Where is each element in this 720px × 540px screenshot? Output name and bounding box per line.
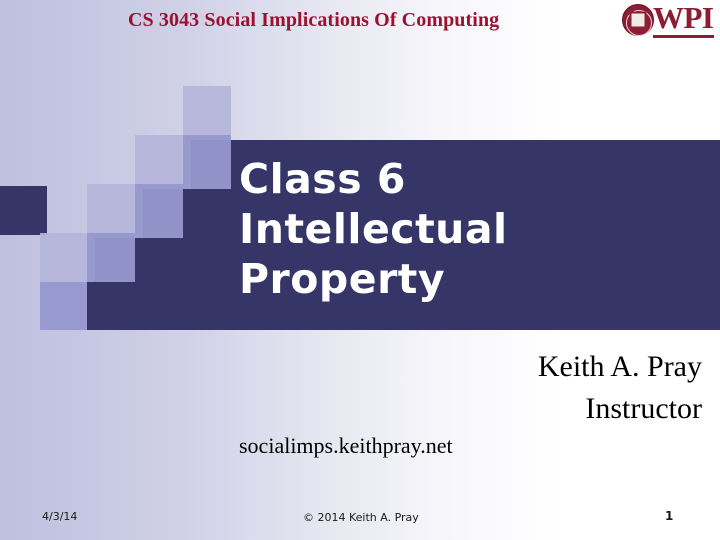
- mosaic-tile: [183, 135, 231, 189]
- title-band-step-mid: [143, 189, 239, 238]
- wpi-underline-rule: [653, 35, 714, 38]
- course-website: socialimps.keithpray.net: [239, 433, 453, 459]
- slide-title-line-2: Intellectual: [239, 204, 709, 254]
- mosaic-tile: [135, 184, 183, 238]
- mosaic-tile: [87, 184, 135, 238]
- slide-title-line-3: Property: [239, 254, 709, 304]
- mosaic-tile: [87, 282, 135, 330]
- wpi-seal-icon: [622, 4, 654, 36]
- mosaic-tile: [87, 233, 135, 282]
- presenter-role: Instructor: [222, 388, 702, 430]
- presenter-block: Keith A. Pray Instructor: [222, 346, 702, 430]
- footer-copyright: © 2014 Keith A. Pray: [303, 511, 419, 524]
- slide-title: Class 6 Intellectual Property: [239, 154, 709, 304]
- footer-date: 4/3/14: [42, 510, 77, 523]
- wpi-seal-ring-icon: [626, 10, 652, 36]
- wpi-logo: WPI: [622, 2, 714, 40]
- title-band-step-lower: [95, 238, 239, 330]
- wpi-wordmark: WPI: [653, 2, 714, 33]
- mosaic-tile: [135, 135, 183, 189]
- presenter-name: Keith A. Pray: [222, 346, 702, 388]
- mosaic-tile: [183, 86, 231, 140]
- presentation-slide: CS 3043 Social Implications Of Computing…: [0, 0, 720, 540]
- footer-page-number: 1: [665, 509, 673, 523]
- title-band-step-upper: [191, 140, 239, 189]
- course-header-title: CS 3043 Social Implications Of Computing: [128, 9, 499, 32]
- slide-title-line-1: Class 6: [239, 154, 709, 204]
- mosaic-tile: [40, 233, 87, 282]
- mosaic-tile: [40, 282, 87, 330]
- mosaic-tile-accent-left: [0, 186, 47, 235]
